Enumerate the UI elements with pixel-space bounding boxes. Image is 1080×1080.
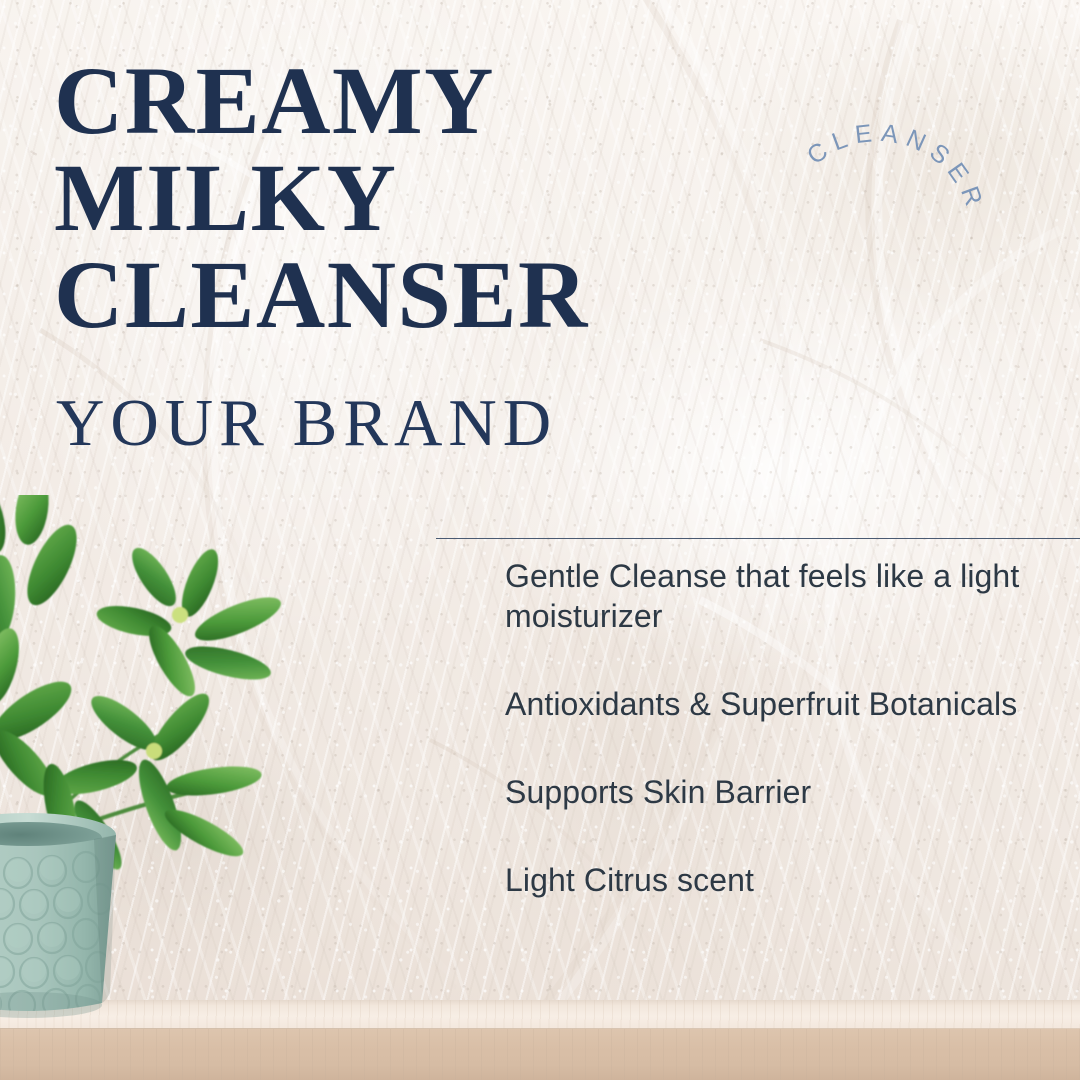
potted-plant-photo: [0, 495, 298, 1040]
brand-name: YOUR BRAND: [56, 385, 756, 462]
cleanser-circular-badge: CLEANSER: [795, 112, 995, 312]
section-divider: [436, 538, 1080, 539]
page-title: CREAMY MILKY CLEANSER: [54, 52, 694, 343]
list-item: Antioxidants & Superfruit Botanicals: [505, 684, 1080, 724]
product-promo-graphic: CREAMY MILKY CLEANSER YOUR BRAND CLEANSE…: [0, 0, 1080, 1080]
feature-list: Gentle Cleanse that feels like a light m…: [505, 556, 1080, 900]
headline-line-1: CREAMY: [54, 52, 694, 149]
headline-line-2: MILKY: [54, 149, 694, 246]
list-item: Supports Skin Barrier: [505, 772, 1080, 812]
badge-text: CLEANSER: [802, 119, 990, 217]
list-item: Light Citrus scent: [505, 860, 1080, 900]
ceramic-pot: [0, 813, 116, 1019]
list-item: Gentle Cleanse that feels like a light m…: [505, 556, 1080, 636]
badge-label: CLEANSER: [802, 119, 990, 217]
headline-line-3: CLEANSER: [54, 246, 694, 343]
